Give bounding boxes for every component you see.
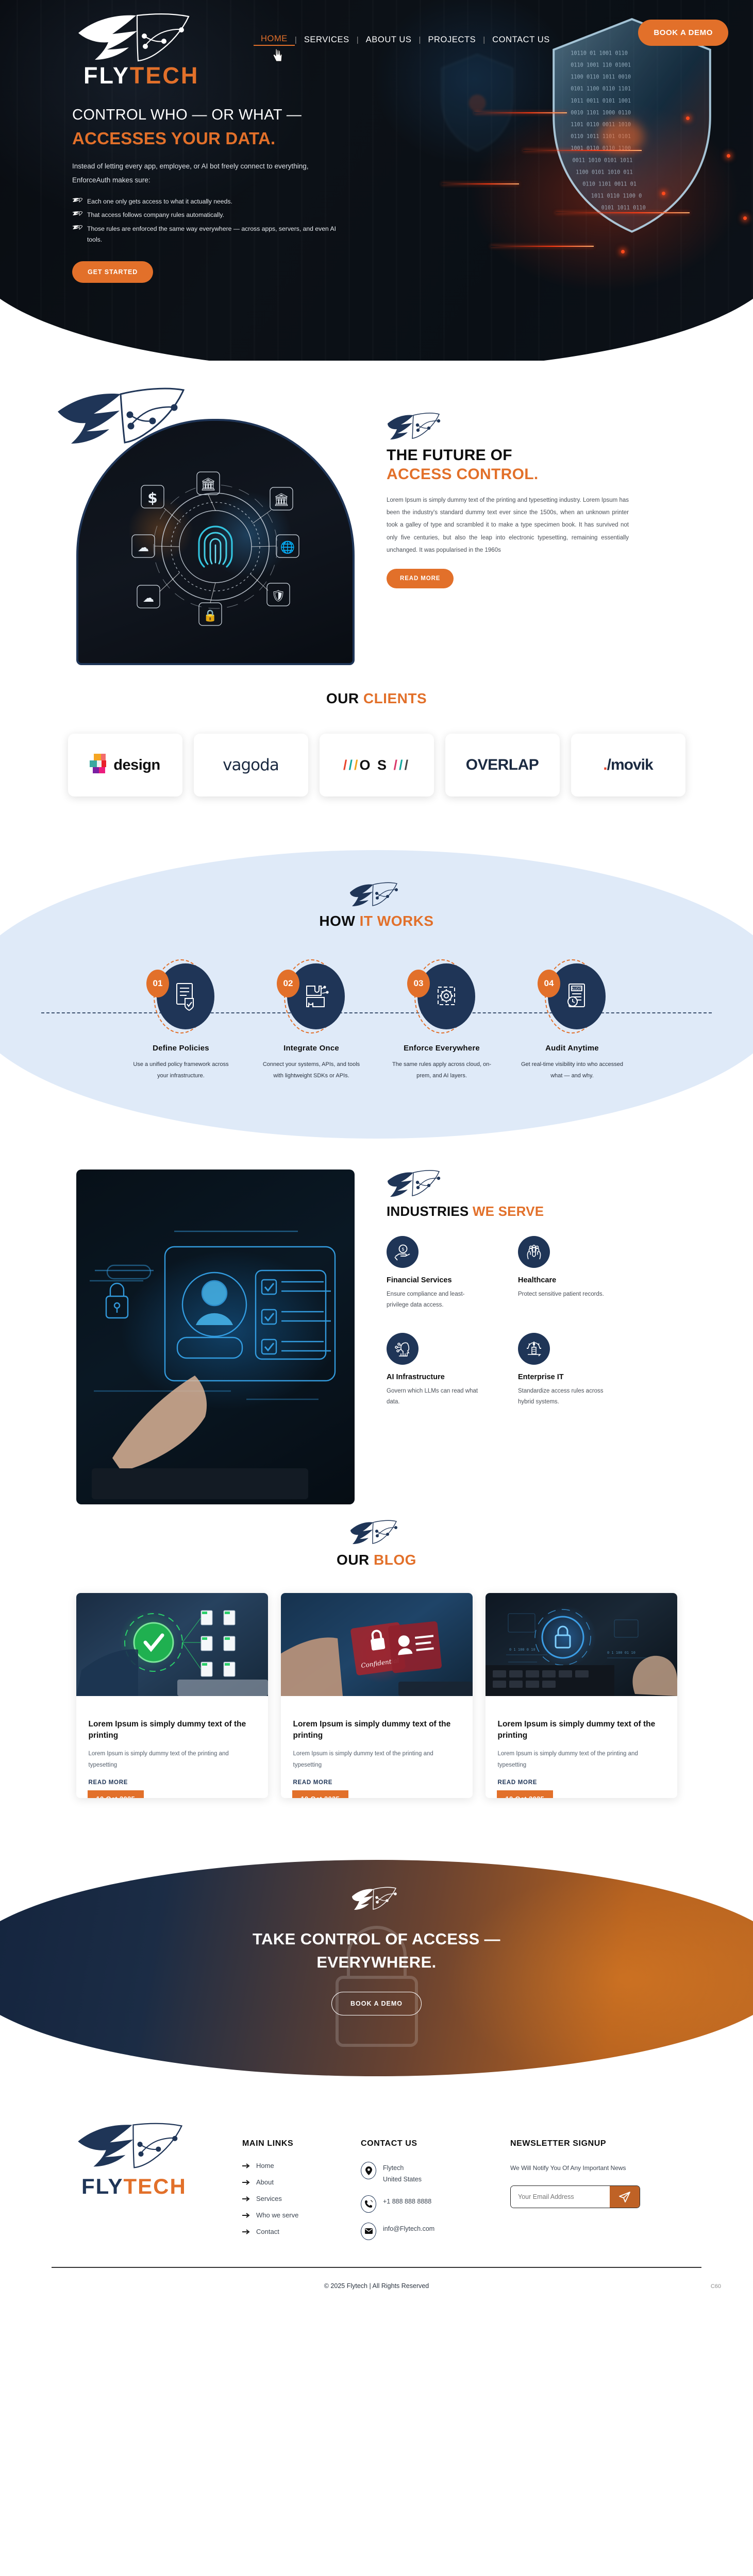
industry-title: Financial Services: [387, 1276, 513, 1284]
fingerprint-hub-graphic-icon: 🏛 🏛 🌐 🛡 🔒 ☁ ☁ $: [112, 462, 319, 632]
industry-icon-wrap: [387, 1333, 419, 1365]
footer-logo[interactable]: FLYTECH: [72, 2117, 242, 2250]
footer-link-who-we-serve[interactable]: Who we serve: [242, 2211, 361, 2219]
hero-bullet-text: Each one only gets access to what it act…: [87, 196, 232, 207]
client-card[interactable]: design: [68, 734, 182, 796]
logo-text-first: FLY: [83, 62, 130, 89]
client-name: vagoda: [223, 756, 279, 774]
svg-text:0101 1100 0110 1101: 0101 1100 0110 1101: [571, 87, 631, 92]
step-number-badge: 01: [146, 970, 169, 997]
cta-content: TAKE CONTROL OF ACCESS — EVERYWHERE. BOO…: [0, 1860, 753, 2015]
svg-text:$: $: [147, 489, 157, 506]
arrow-right-icon: [242, 2179, 250, 2185]
puzzle-integration-icon: [302, 981, 330, 1012]
svg-text:☁: ☁: [143, 592, 154, 605]
footer-link-label: Contact: [256, 2228, 279, 2235]
industry-title: Enterprise IT: [518, 1373, 644, 1381]
industry-item-ai-infrastructure: AI Infrastructure Govern which LLMs can …: [387, 1333, 513, 1408]
envelope-icon: [361, 2223, 376, 2240]
footer-newsletter-heading: NEWSLETTER SIGNUP: [510, 2139, 680, 2148]
client-logo-row: design vagoda ///O S /// OVERLAP ./movik: [0, 734, 753, 796]
mouse-pointer-hand-icon: [272, 47, 283, 63]
step-description: Connect your systems, APIs, and tools wi…: [246, 1059, 377, 1081]
blog-thumbnail: [76, 1593, 268, 1696]
wing-decoration-icon: [351, 1887, 403, 1910]
footer-link-services[interactable]: Services: [242, 2195, 361, 2202]
footer-divider: [52, 2267, 701, 2268]
footer-link-label: Who we serve: [256, 2211, 298, 2219]
blog-title: OUR BLOG: [0, 1552, 753, 1568]
confidential-lock-graphic-icon: Confidential: [281, 1593, 473, 1696]
svg-text:🏛: 🏛: [200, 477, 216, 492]
clients-title: OUR CLIENTS: [0, 690, 753, 707]
svg-text:AUDIT: AUDIT: [572, 987, 582, 991]
wing-logo-icon: [72, 2117, 193, 2173]
industry-title: Healthcare: [518, 1276, 644, 1284]
cta-book-a-demo-button[interactable]: BOOK A DEMO: [331, 1992, 422, 2015]
how-it-works-steps: 01 Define Policies Use a unified policy …: [0, 958, 753, 1081]
blog-post-title: Lorem Ipsum is simply dummy text of the …: [498, 1719, 665, 1742]
svg-text:0 1 100 01 10: 0 1 100 01 10: [607, 1651, 635, 1655]
blog-read-more-link[interactable]: READ MORE: [89, 1780, 128, 1786]
client-card[interactable]: ///O S ///: [320, 734, 434, 796]
cta-section: TAKE CONTROL OF ACCESS — EVERYWHERE. BOO…: [0, 1860, 753, 2087]
get-started-button[interactable]: GET STARTED: [72, 261, 153, 283]
blog-date-badge: 10 Oct 2025: [292, 1790, 349, 1798]
how-step-1: 01 Define Policies Use a unified policy …: [116, 958, 246, 1081]
arrow-right-icon: [242, 2163, 250, 2169]
cta-heading-line1: TAKE CONTROL OF ACCESS —: [253, 1930, 500, 1948]
blog-card[interactable]: 10 Oct 2025 Lorem Ipsum is simply dummy …: [76, 1593, 268, 1798]
approval-check-graphic-icon: [76, 1593, 268, 1696]
industry-icon-wrap: $: [387, 1236, 419, 1268]
gear-enforce-icon: [432, 981, 461, 1012]
blog-date-badge: 10 Oct 2025: [88, 1790, 144, 1798]
footer-link-label: About: [256, 2178, 274, 2186]
wing-decoration-icon: [387, 412, 447, 440]
svg-text:1011 0110 1100 0: 1011 0110 1100 0: [591, 194, 642, 199]
footer-contact-column: CONTACT US Flytech United States +1 888 …: [361, 2117, 510, 2250]
audit-report-icon: AUDIT: [562, 981, 591, 1012]
footer-logo-text-second: TECH: [123, 2174, 186, 2198]
page-root: 10110 01 1001 01100110 1001 110 01001 11…: [0, 0, 753, 2303]
industries-section: INDUSTRIES WE SERVE $ Financial Services: [0, 1149, 753, 1520]
footer-link-about[interactable]: About: [242, 2178, 361, 2186]
patient-care-icon: [525, 1243, 543, 1261]
blog-read-more-link[interactable]: READ MORE: [293, 1780, 333, 1786]
svg-text:0101 1011 0110: 0101 1011 0110: [601, 206, 646, 211]
footer-address-item: Flytech United States: [361, 2162, 510, 2185]
svg-text:1100 0101 1010 011: 1100 0101 1010 011: [576, 170, 633, 175]
industries-grid: $ Financial Services Ensure compliance a…: [387, 1236, 644, 1408]
phone-icon: [361, 2195, 376, 2213]
svg-text:0110 1101 0011 01: 0110 1101 0011 01: [582, 182, 637, 188]
hero-heading: CONTROL WHO — OR WHAT — ACCESSES YOUR DA…: [72, 106, 402, 149]
svg-text:☁: ☁: [138, 541, 149, 554]
future-image-block: 🏛 🏛 🌐 🛡 🔒 ☁ ☁ $: [76, 410, 355, 662]
blog-thumbnail: Confidential: [281, 1593, 473, 1696]
footer-newsletter-text: We Will Notify You Of Any Important News: [510, 2162, 680, 2174]
blog-card[interactable]: 0 1 100 0 100 1 100 01 10 0 1 00 1 0: [486, 1593, 677, 1798]
footer-newsletter-column: NEWSLETTER SIGNUP We Will Notify You Of …: [510, 2117, 680, 2250]
footer-email-text: info@Flytech.com: [383, 2223, 434, 2235]
footer-logo-wordmark: FLYTECH: [72, 2174, 242, 2199]
step-description: Use a unified policy framework across yo…: [116, 1059, 246, 1081]
industry-description: Protect sensitive patient records.: [518, 1289, 616, 1300]
step-number-badge: 03: [407, 970, 430, 997]
clients-title-accent: CLIENTS: [363, 690, 427, 706]
blog-read-more-link[interactable]: READ MORE: [498, 1780, 538, 1786]
wing-decoration-icon: [349, 1520, 404, 1545]
how-title-accent: IT WORKS: [360, 913, 434, 929]
client-logo-design: design: [90, 754, 160, 776]
client-name: OVERLAP: [466, 756, 539, 774]
clients-title-plain: OUR: [326, 690, 363, 706]
wing-logo-icon: [72, 11, 201, 63]
industry-description: Ensure compliance and least-privilege da…: [387, 1289, 484, 1311]
hero-bullet-list: Each one only gets access to what it act…: [72, 196, 402, 245]
future-copy-block: THE FUTURE OF ACCESS CONTROL. Lorem Ipsu…: [387, 412, 629, 588]
wing-decoration-icon: [387, 1170, 447, 1197]
industry-icon-wrap: [518, 1236, 550, 1268]
how-step-2: 02 Integrate Once Connect your systems, …: [246, 958, 377, 1081]
step-title: Integrate Once: [246, 1044, 377, 1053]
clients-section: OUR CLIENTS design v: [0, 690, 753, 850]
svg-text:0 1 100 0 10: 0 1 100 0 10: [509, 1648, 536, 1652]
arrow-right-icon: [242, 2212, 250, 2218]
svg-text:🛡: 🛡: [271, 590, 286, 603]
cyber-lock-graphic-icon: 0 1 100 0 100 1 100 01 10 0 1 00 1 0: [486, 1593, 677, 1696]
step-title: Enforce Everywhere: [377, 1044, 507, 1053]
blog-date-badge: 10 Oct 2025: [497, 1790, 554, 1798]
step-number-badge: 04: [538, 970, 560, 997]
hero-bullet-item: Each one only gets access to what it act…: [72, 196, 345, 207]
industry-item-enterprise-it: Enterprise IT Standardize access rules a…: [518, 1333, 644, 1408]
footer: FLYTECH MAIN LINKS Home About Services: [0, 2087, 753, 2303]
industries-title-accent: WE SERVE: [473, 1204, 544, 1219]
how-it-works-section: HOW IT WORKS: [0, 850, 753, 1149]
industry-item-healthcare: Healthcare Protect sensitive patient rec…: [518, 1236, 644, 1311]
wing-decoration-icon: [349, 882, 405, 907]
client-name: design: [113, 757, 160, 774]
future-read-more-button[interactable]: READ MORE: [387, 569, 454, 588]
policy-document-icon: [171, 981, 200, 1012]
wing-bullet-icon: [72, 225, 82, 230]
step-description: Get real-time visibility into who access…: [507, 1059, 638, 1081]
nav-item-projects[interactable]: PROJECTS: [421, 35, 483, 45]
svg-text:0010 1101 1000 0110: 0010 1101 1000 0110: [571, 110, 631, 116]
client-card[interactable]: ./movik: [571, 734, 685, 796]
hero-bullet-item: Those rules are enforced the same way ev…: [72, 224, 345, 246]
blog-post-excerpt: Lorem Ipsum is simply dummy text of the …: [89, 1748, 256, 1771]
top-navigation-bar: FLYTECH HOME | SERVICES | ABOUT US | PRO…: [0, 0, 753, 77]
future-paragraph: Lorem Ipsum is simply dummy text of the …: [387, 494, 629, 556]
blog-post-excerpt: Lorem Ipsum is simply dummy text of the …: [498, 1748, 665, 1771]
hero-heading-accent: ACCESSES YOUR DATA.: [72, 128, 402, 149]
newsletter-signup-form: [510, 2185, 640, 2208]
book-a-demo-button[interactable]: BOOK A DEMO: [638, 20, 728, 46]
ai-brain-icon: [394, 1340, 411, 1358]
logo-wordmark: FLYTECH: [72, 64, 206, 87]
newsletter-submit-button[interactable]: [610, 2186, 640, 2208]
industries-copy: INDUSTRIES WE SERVE $ Financial Services: [387, 1170, 644, 1408]
footer-contact-heading: CONTACT US: [361, 2139, 510, 2148]
location-pin-icon: [361, 2162, 376, 2179]
hero-bullet-item: That access follows company rules automa…: [72, 210, 345, 221]
future-title-line1: THE FUTURE OF: [387, 447, 512, 464]
blog-post-title: Lorem Ipsum is simply dummy text of the …: [89, 1719, 256, 1742]
industry-icon-wrap: [518, 1333, 550, 1365]
step-title: Audit Anytime: [507, 1044, 638, 1053]
step-number-badge: 02: [277, 970, 299, 997]
cta-heading-line2: EVERYWHERE.: [316, 1953, 436, 1971]
industry-title: AI Infrastructure: [387, 1373, 513, 1381]
footer-address-line1: Flytech: [383, 2164, 404, 2172]
logo-text-second: TECH: [130, 62, 199, 89]
industries-title-plain: INDUSTRIES: [387, 1204, 473, 1219]
svg-text:🔒: 🔒: [203, 609, 217, 622]
client-name: ///O S ///: [343, 757, 410, 773]
arrow-right-icon: [242, 2196, 250, 2202]
industry-description: Standardize access rules across hybrid s…: [518, 1386, 616, 1408]
how-it-works-title: HOW IT WORKS: [0, 913, 753, 929]
cta-heading: TAKE CONTROL OF ACCESS — EVERYWHERE.: [0, 1928, 753, 1974]
blog-title-plain: OUR: [337, 1552, 374, 1568]
main-nav: HOME | SERVICES | ABOUT US | PROJECTS | …: [254, 34, 557, 46]
hero-bullet-text: That access follows company rules automa…: [87, 210, 224, 221]
wing-bullet-icon: [72, 211, 82, 216]
how-title-plain: HOW: [319, 913, 359, 929]
footer-logo-text-first: FLY: [81, 2174, 123, 2198]
wing-decoration-icon: [56, 385, 205, 462]
design-blocks-icon: [90, 754, 109, 776]
nav-item-services[interactable]: SERVICES: [297, 35, 357, 45]
blog-card[interactable]: Confidential 10 Oct 2025 Lorem Ipsum is: [281, 1593, 473, 1798]
hero-section: 10110 01 1001 01100110 1001 110 01001 11…: [0, 0, 753, 361]
money-hand-icon: $: [394, 1243, 411, 1261]
future-title-accent: ACCESS CONTROL.: [387, 465, 629, 484]
footer-link-label: Home: [256, 2162, 274, 2170]
industry-item-financial-services: $ Financial Services Ensure compliance a…: [387, 1236, 513, 1311]
corner-code-label: C60: [711, 2283, 721, 2290]
client-card[interactable]: OVERLAP: [445, 734, 560, 796]
footer-address-line2: United States: [383, 2176, 422, 2183]
footer-phone-item[interactable]: +1 888 888 8888: [361, 2195, 510, 2213]
enterprise-gear-icon: [525, 1340, 543, 1358]
industry-description: Govern which LLMs can read what data.: [387, 1386, 484, 1408]
identity-verification-graphic-icon: [76, 1170, 355, 1504]
step-title: Define Policies: [116, 1044, 246, 1053]
footer-link-home[interactable]: Home: [242, 2162, 361, 2170]
footer-link-contact[interactable]: Contact: [242, 2228, 361, 2235]
svg-text:0011 1010 0101 1011: 0011 1010 0101 1011: [573, 158, 633, 163]
blog-post-excerpt: Lorem Ipsum is simply dummy text of the …: [293, 1748, 460, 1771]
footer-phone-text: +1 888 888 8888: [383, 2195, 431, 2208]
nav-item-home[interactable]: HOME: [254, 34, 295, 46]
hero-heading-line1: CONTROL WHO — OR WHAT —: [72, 107, 302, 123]
svg-text:🏛: 🏛: [274, 493, 289, 507]
future-access-control-section: 🏛 🏛 🌐 🛡 🔒 ☁ ☁ $: [0, 361, 753, 690]
blog-post-title: Lorem Ipsum is simply dummy text of the …: [293, 1719, 460, 1742]
wing-bullet-icon: [72, 198, 82, 202]
footer-main-links-heading: MAIN LINKS: [242, 2139, 361, 2148]
blog-thumbnail: 0 1 100 0 100 1 100 01 10 0 1 00 1 0: [486, 1593, 677, 1696]
nav-item-about-us[interactable]: ABOUT US: [359, 35, 419, 45]
future-section-title: THE FUTURE OF ACCESS CONTROL.: [387, 446, 629, 484]
footer-address-text: Flytech United States: [383, 2162, 422, 2185]
client-card[interactable]: vagoda: [194, 734, 308, 796]
blog-title-accent: BLOG: [374, 1552, 416, 1568]
send-paper-plane-icon: [619, 2191, 630, 2202]
hero-copy: CONTROL WHO — OR WHAT — ACCESSES YOUR DA…: [72, 106, 402, 283]
industries-image: [76, 1170, 355, 1504]
step-description: The same rules apply across cloud, on-pr…: [377, 1059, 507, 1081]
footer-email-item[interactable]: info@Flytech.com: [361, 2223, 510, 2240]
blog-section: OUR BLOG: [0, 1520, 753, 1860]
footer-copyright: © 2025 Flytech | All Rights Reserved: [0, 2282, 753, 2290]
how-step-4: AUDIT 04 Audit Anytime Get real-time vis…: [507, 958, 638, 1081]
newsletter-email-input[interactable]: [511, 2186, 610, 2208]
svg-text:$: $: [401, 1247, 405, 1252]
footer-main-links-column: MAIN LINKS Home About Services Who we se…: [242, 2117, 361, 2250]
header-logo[interactable]: FLYTECH: [72, 11, 206, 87]
client-name: ./movik: [603, 756, 652, 774]
arrow-right-icon: [242, 2229, 250, 2235]
nav-item-contact-us[interactable]: CONTACT US: [485, 35, 557, 45]
industries-title: INDUSTRIES WE SERVE: [387, 1204, 644, 1219]
blog-card-row: 10 Oct 2025 Lorem Ipsum is simply dummy …: [0, 1593, 753, 1798]
how-step-3: 03 Enforce Everywhere The same rules app…: [377, 958, 507, 1081]
svg-text:1011 0011 0101 1001: 1011 0011 0101 1001: [571, 98, 631, 104]
hero-bullet-text: Those rules are enforced the same way ev…: [87, 224, 345, 246]
hero-subtitle: Instead of letting every app, employee, …: [72, 160, 314, 187]
footer-link-label: Services: [256, 2195, 282, 2202]
svg-text:🌐: 🌐: [280, 540, 295, 554]
